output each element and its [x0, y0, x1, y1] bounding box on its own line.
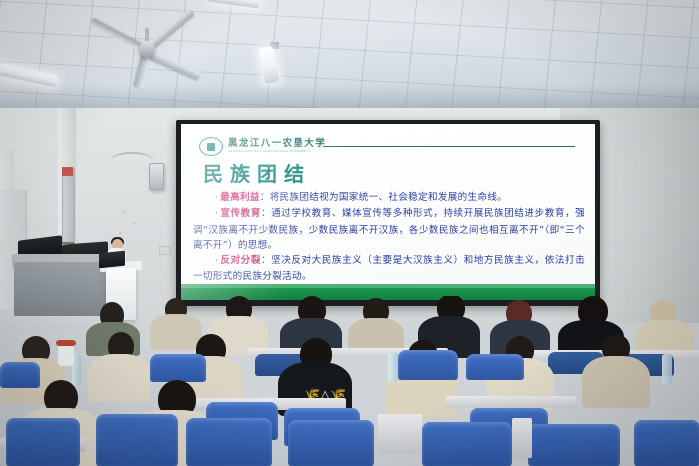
- student: [150, 314, 202, 350]
- header-rule: [323, 146, 575, 147]
- seat: [0, 362, 40, 388]
- seat: [186, 418, 272, 466]
- slide-bullet-2: ·宣传教育：通过学校教育、媒体宣传等多种形式，持续开展民族团结进步教育，强调“汉…: [193, 206, 585, 253]
- university-crest-icon: [199, 137, 223, 156]
- bullet-marker: ·: [215, 193, 218, 203]
- seat: [422, 422, 512, 466]
- wall-mark: [123, 210, 126, 213]
- university-name-en: HEILONGJIANG BAYI AGRICULTURAL UNIVERSIT…: [228, 151, 326, 154]
- bullet-marker: ·: [215, 209, 218, 219]
- university-logo: 黑龙江八一农垦大学 HEILONGJIANG BAYI AGRICULTURAL…: [199, 137, 326, 156]
- wall-mark: [119, 232, 122, 235]
- university-name-cn: 黑龙江八一农垦大学: [228, 139, 326, 149]
- slide-body: ·最高利益：将民族团结视为国家统一、社会稳定和发展的生命线。 ·宣传教育：通过学…: [193, 190, 585, 285]
- seat: [398, 350, 458, 380]
- laptop-icon: [99, 251, 125, 269]
- water-bottle-icon: [662, 354, 672, 384]
- seat: [96, 414, 178, 466]
- seat: [466, 354, 524, 380]
- bullet-text: 将民族团结视为国家统一、社会稳定和发展的生命线。: [270, 192, 507, 203]
- lecture-hall-photo: 黑龙江八一农垦大学 HEILONGJIANG BAYI AGRICULTURAL…: [0, 0, 699, 466]
- bullet-keyword: 宣传教育: [220, 208, 261, 219]
- slide-footer-bar-highlight: [181, 284, 595, 288]
- desk: [446, 396, 576, 408]
- wall-mark: [133, 222, 136, 225]
- bullet-keyword: 反对分裂: [220, 255, 261, 266]
- seat: [288, 420, 374, 466]
- ceiling-fan-icon: [139, 41, 155, 58]
- water-bottle-icon: [388, 352, 398, 382]
- desk-divider: [378, 414, 422, 454]
- seat: [150, 354, 206, 382]
- slide-bullet-3: ·反对分裂：坚决反对大民族主义（主要是大汉族主义）和地方民族主义，依法打击一切形…: [193, 253, 585, 285]
- audience-area: 🌾△🌾: [0, 296, 699, 466]
- slide-bullet-1: ·最高利益：将民族团结视为国家统一、社会稳定和发展的生命线。: [193, 190, 585, 206]
- coffee-cup-icon: [58, 344, 74, 366]
- seat: [6, 418, 80, 466]
- projection-screen: 黑龙江八一农垦大学 HEILONGJIANG BAYI AGRICULTURAL…: [181, 124, 595, 300]
- wall-speaker-icon: [149, 163, 164, 190]
- cup-lid-icon: [56, 340, 76, 346]
- bullet-keyword: 最高利益: [220, 192, 260, 203]
- desk-divider: [512, 418, 532, 458]
- seat: [528, 424, 620, 466]
- student: [88, 354, 150, 402]
- seat: [634, 420, 699, 466]
- student: [582, 356, 650, 408]
- fire-alarm-icon: [62, 167, 73, 176]
- wall-outlet-icon: [159, 246, 171, 255]
- bullet-marker: ·: [215, 256, 218, 266]
- slide-title: 民族团结: [203, 158, 311, 187]
